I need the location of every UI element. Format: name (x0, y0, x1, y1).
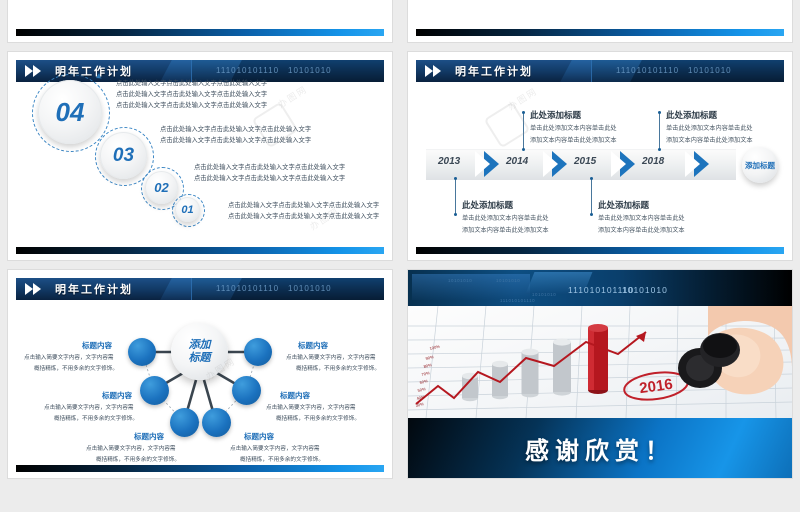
network-label-2-line-1: 点击输入简要文字内容，文字内容需 (44, 403, 138, 414)
network-label-4-line-1: 点击输入简要文字内容，文字内容需 (230, 444, 324, 455)
step-circle-04[interactable]: 04 (38, 80, 102, 144)
network-label-3-line-1: 点击输入简要文字内容，文字内容需 (86, 444, 180, 455)
slide1-footer-bar (16, 29, 384, 36)
timeline-dot-2014-bottom (522, 148, 525, 151)
network-label-1-heading: 标题内容 (82, 340, 112, 351)
network-label-5-line-1: 点击输入简要文字内容，文字内容需 (266, 403, 360, 414)
network-node-6[interactable] (244, 338, 272, 366)
slide-partial-top-right: 单击此处添加文本内容单击此处 文本内容单击此处添加文本 (408, 0, 792, 42)
slide3-binary-right: 10101010 (288, 66, 332, 75)
timeline-year-2013[interactable]: 2013 (438, 156, 460, 167)
timeline-dot-2018-bottom (658, 148, 661, 151)
timeline-stem-2014 (523, 112, 524, 150)
network-node-1[interactable] (128, 338, 156, 366)
step-circle-01[interactable]: 01 (175, 197, 200, 222)
thank-you-text: 感谢欣赏！ (525, 431, 675, 466)
callout-2014-body-line-2: 添加文本内容单击此处添加文本 (530, 135, 617, 147)
slide-circles-steps: 明年工作计划 111010101110 10101010 04 03 02 01… (8, 52, 392, 260)
callout-2013-heading: 此处添加标题 (462, 199, 513, 211)
slide5-section-title: 明年工作计划 (55, 281, 133, 297)
slide5-binary-left: 111010101110 (216, 284, 279, 293)
network-label-5-body: 点击输入简要文字内容，文字内容需 概括精炼，不用多余的文字修饰。 (266, 403, 360, 424)
timeline-year-2015[interactable]: 2015 (574, 156, 596, 167)
callout-2014-body: 单击此处添加文本内容单击此处 添加文本内容单击此处添加文本 (530, 123, 617, 147)
network-label-1-line-1: 点击输入简要文字内容，文字内容需 (24, 353, 118, 364)
hub-line-2: 标题 (189, 352, 211, 365)
step-circle-02[interactable]: 02 (145, 171, 178, 204)
timeline-stem-2013 (455, 179, 456, 214)
double-chevron-icon (25, 65, 47, 77)
svg-text:30%: 30% (415, 401, 424, 408)
svg-text:2016: 2016 (638, 376, 673, 397)
network-label-6-line-1: 点击输入简要文字内容，文字内容需 (286, 353, 380, 364)
callout-2014-body-line-1: 单击此处添加文本内容单击此处 (530, 123, 617, 135)
network-node-2[interactable] (140, 376, 169, 405)
timeline-dot-2015-top (590, 177, 593, 180)
timeline-dot-2013-top (454, 177, 457, 180)
growth-chart-illustration: 100% 90% 80% 70% 60% 50% 40% 30% 2016 (408, 306, 792, 418)
callout-2013-body-line-2: 添加文本内容单击此处添加文本 (462, 225, 549, 237)
step-03-line-2: 点击此处输入文字点击此处输入文字点击此处输入文字 (160, 135, 311, 146)
step-text-02: 点击此处输入文字点击此处输入文字点击此处输入文字 点击此处输入文字点击此处输入文… (194, 162, 345, 184)
svg-text:60%: 60% (419, 378, 428, 385)
network-label-6-body: 点击输入简要文字内容，文字内容需 概括精炼，不用多余的文字修饰。 (286, 353, 380, 374)
timeline-chevron-4 (694, 151, 709, 177)
slide3-footer-bar (16, 247, 384, 254)
network-node-5[interactable] (232, 376, 261, 405)
network-label-2-body: 点击输入简要文字内容，文字内容需 概括精炼，不用多余的文字修饰。 (44, 403, 138, 424)
callout-2014-heading: 此处添加标题 (530, 109, 581, 121)
callout-2013-body-line-1: 单击此处添加文本内容单击此处 (462, 213, 549, 225)
step-01-line-1: 点击此处输入文字点击此处输入文字点击此处输入文字 (228, 200, 379, 211)
slide4-footer-bar (416, 247, 784, 254)
step-02-line-2: 点击此处输入文字点击此处输入文字点击此处输入文字 (194, 173, 345, 184)
network-label-5-line-2: 概括精炼，不用多余的文字修饰。 (276, 414, 360, 425)
network-node-3[interactable] (170, 408, 199, 437)
slide6-binary-right: 10101010 (622, 285, 668, 295)
step-02-line-1: 点击此处输入文字点击此处输入文字点击此处输入文字 (194, 162, 345, 173)
timeline-chevron-3 (620, 151, 635, 177)
network-label-4-body: 点击输入简要文字内容，文字内容需 概括精炼，不用多余的文字修饰。 (230, 444, 324, 465)
timeline-chevron-1 (484, 151, 499, 177)
network-label-3-heading: 标题内容 (134, 431, 164, 442)
timeline-chevron-2 (552, 151, 567, 177)
network-label-1-body: 点击输入简要文字内容，文字内容需 概括精炼，不用多余的文字修饰。 (24, 353, 118, 374)
callout-2018-body: 单击此处添加文本内容单击此处 添加文本内容单击此处添加文本 (666, 123, 753, 147)
slide-timeline: 明年工作计划 111010101110 10101010 2013 2014 2… (408, 52, 792, 260)
slide6-tiny-binary-2: 10101010 (496, 278, 520, 283)
network-label-6-line-2: 概括精炼，不用多余的文字修饰。 (296, 364, 380, 375)
step-03-line-1: 点击此处输入文字点击此处输入文字点击此处输入文字 (160, 124, 311, 135)
callout-2018-body-line-2: 添加文本内容单击此处添加文本 (666, 135, 753, 147)
network-label-2-line-2: 概括精炼，不用多余的文字修饰。 (54, 414, 138, 425)
svg-text:90%: 90% (425, 354, 434, 361)
slide6-tiny-binary-1: 10101010 (448, 278, 472, 283)
double-chevron-icon (25, 283, 47, 295)
callout-2015-heading: 此处添加标题 (598, 199, 649, 211)
slide3-binary-left: 111010101110 (216, 66, 279, 75)
network-label-3-body: 点击输入简要文字内容，文字内容需 概括精炼，不用多余的文字修饰。 (86, 444, 180, 465)
timeline-dot-2014-top (522, 111, 525, 114)
step-text-04: 点击此处输入文字点击此处输入文字点击此处输入文字 点击此处输入文字点击此处输入文… (116, 78, 267, 111)
network-label-5-heading: 标题内容 (280, 390, 310, 401)
slide3-header-left: 明年工作计划 (16, 60, 133, 82)
step-01-line-2: 点击此处输入文字点击此处输入文字点击此处输入文字 (228, 211, 379, 222)
slide-partial-top-left: 单击此处添加文本内容 2014 单击此处添加文本内容 单击此处添加文本内容 单击… (8, 0, 392, 42)
slide-thank-you: 10101010 10101010 111010101110 10101010 … (408, 270, 792, 478)
network-node-4[interactable] (202, 408, 231, 437)
network-hub[interactable]: 添加 标题 (171, 323, 228, 380)
slide-network-diagram: 明年工作计划 111010101110 10101010 (8, 270, 392, 478)
timeline-end-label: 添加标题 (745, 161, 775, 170)
watermark-text: 办图网 (275, 82, 310, 111)
timeline-year-2018[interactable]: 2018 (642, 156, 664, 167)
thank-you-banner: 感谢欣赏！ (408, 418, 792, 478)
callout-2015-body: 单击此处添加文本内容单击此处 添加文本内容单击此处添加文本 (598, 213, 685, 237)
slide6-header-band: 10101010 10101010 111010101110 10101010 … (408, 270, 792, 306)
step-circle-03[interactable]: 03 (100, 132, 147, 179)
slide2-footer-bar (416, 29, 784, 36)
timeline-dot-2013-bottom (454, 213, 457, 216)
network-label-1-line-2: 概括精炼，不用多余的文字修饰。 (34, 364, 118, 375)
slide6-tiny-binary-3: 111010101110 (500, 298, 535, 303)
callout-2013-body: 单击此处添加文本内容单击此处 添加文本内容单击此处添加文本 (462, 213, 549, 237)
network-label-4-line-2: 概括精炼，不用多余的文字修饰。 (240, 455, 324, 466)
slide4-header-left: 明年工作计划 (416, 60, 533, 82)
svg-text:100%: 100% (429, 344, 441, 351)
step-04-line-1: 点击此处输入文字点击此处输入文字点击此处输入文字 (116, 78, 267, 89)
hand-with-stamp (678, 306, 792, 394)
step-text-03: 点击此处输入文字点击此处输入文字点击此处输入文字 点击此处输入文字点击此处输入文… (160, 124, 311, 146)
hub-line-1: 添加 (189, 339, 211, 352)
slide4-section-title: 明年工作计划 (455, 63, 533, 79)
slide5-header-left: 明年工作计划 (16, 278, 133, 300)
network-label-4-heading: 标题内容 (244, 431, 274, 442)
step-04-line-3: 点击此处输入文字点击此处输入文字点击此处输入文字 (116, 100, 267, 111)
timeline-dot-2018-top (658, 111, 661, 114)
slide6-tiny-binary-4: 10101010 (532, 292, 556, 297)
slide4-binary-right: 10101010 (688, 66, 732, 75)
double-chevron-icon (425, 65, 447, 77)
timeline-stem-2015 (591, 179, 592, 214)
step-text-01: 点击此处输入文字点击此处输入文字点击此处输入文字 点击此处输入文字点击此处输入文… (228, 200, 379, 222)
slide4-binary-left: 111010101110 (616, 66, 679, 75)
slide3-section-title: 明年工作计划 (55, 63, 133, 79)
slide-grid-page: 单击此处添加文本内容 2014 单击此处添加文本内容 单击此处添加文本内容 单击… (0, 0, 800, 512)
network-label-6-heading: 标题内容 (298, 340, 328, 351)
timeline-dot-2015-bottom (590, 213, 593, 216)
slide5-footer-bar (16, 465, 384, 472)
growth-chart-photo: 100% 90% 80% 70% 60% 50% 40% 30% 2016 (408, 306, 792, 418)
svg-text:70%: 70% (421, 370, 430, 377)
network-label-2-heading: 标题内容 (102, 390, 132, 401)
network-label-3-line-2: 概括精炼，不用多余的文字修饰。 (96, 455, 180, 466)
slide5-binary-right: 10101010 (288, 284, 332, 293)
callout-2018-body-line-1: 单击此处添加文本内容单击此处 (666, 123, 753, 135)
callout-2015-body-line-1: 单击此处添加文本内容单击此处 (598, 213, 685, 225)
callout-2015-body-line-2: 添加文本内容单击此处添加文本 (598, 225, 685, 237)
svg-text:50%: 50% (417, 386, 426, 393)
svg-text:40%: 40% (416, 394, 425, 401)
step-04-line-2: 点击此处输入文字点击此处输入文字点击此处输入文字 (116, 89, 267, 100)
timeline-end-circle[interactable]: 添加标题 (742, 147, 778, 183)
timeline-year-2014[interactable]: 2014 (506, 156, 528, 167)
timeline-stem-2018 (659, 112, 660, 150)
slide4-header-band: 明年工作计划 111010101110 10101010 (416, 60, 784, 82)
callout-2018-heading: 此处添加标题 (666, 109, 717, 121)
